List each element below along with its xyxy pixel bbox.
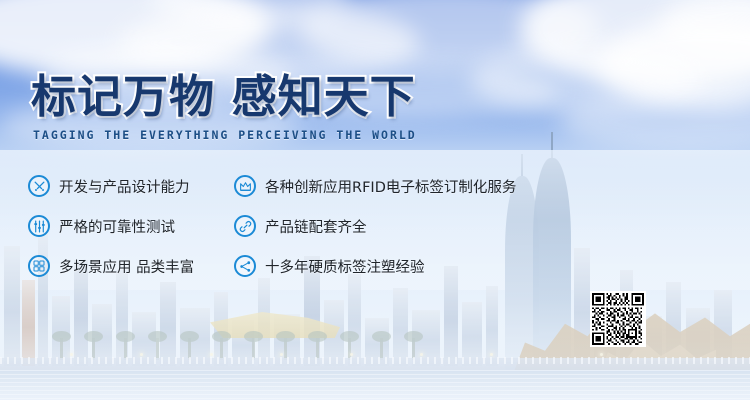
crossed-tools-icon	[28, 175, 50, 197]
feature-label: 开发与产品设计能力	[59, 176, 190, 197]
equalizer-sliders-icon	[28, 215, 50, 237]
chain-link-icon	[234, 215, 256, 237]
feature-label: 十多年硬质标签注塑经验	[265, 256, 425, 277]
feature-item: 多场景应用 品类丰富	[28, 246, 194, 286]
qr-code[interactable]	[590, 291, 646, 347]
feature-label: 严格的可靠性测试	[59, 216, 175, 237]
feature-item: 严格的可靠性测试	[28, 206, 194, 246]
qr-code-image	[592, 293, 644, 345]
feature-column-right: 各种创新应用RFID电子标签订制化服务 产品链配套齐全	[234, 166, 516, 286]
waterfront	[0, 370, 750, 400]
promo-banner: 标记万物 感知天下 TAGGING THE EVERYTHING PERCEIV…	[0, 0, 750, 400]
feature-label: 多场景应用 品类丰富	[59, 256, 194, 277]
grid-squares-icon	[28, 255, 50, 277]
feature-item: 开发与产品设计能力	[28, 166, 194, 206]
railing	[0, 357, 750, 364]
feature-label: 产品链配套齐全	[265, 216, 367, 237]
share-nodes-icon	[234, 255, 256, 277]
feature-label: 各种创新应用RFID电子标签订制化服务	[265, 176, 516, 197]
feature-column-left: 开发与产品设计能力 严格的可靠性测试	[28, 166, 194, 286]
feature-item: 产品链配套齐全	[234, 206, 516, 246]
page-subtitle: TAGGING THE EVERYTHING PERCEIVING THE WO…	[33, 128, 417, 142]
feature-item: 各种创新应用RFID电子标签订制化服务	[234, 166, 516, 206]
crown-icon	[234, 175, 256, 197]
page-title: 标记万物 感知天下	[31, 74, 416, 119]
feature-item: 十多年硬质标签注塑经验	[234, 246, 516, 286]
